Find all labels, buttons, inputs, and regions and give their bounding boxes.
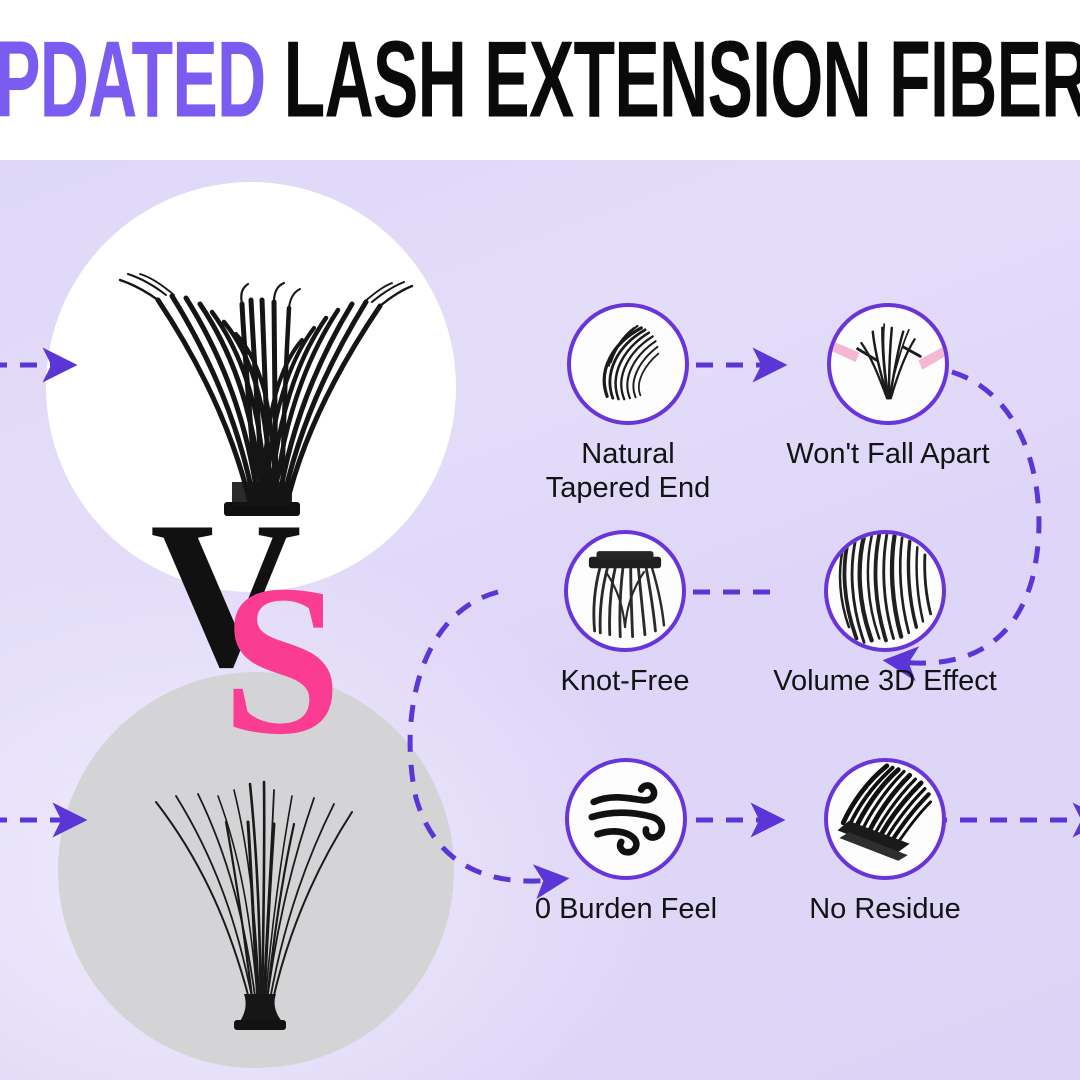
feature-knot-free[interactable]: Knot-Free	[505, 530, 745, 698]
feature-icon-circle	[827, 303, 949, 425]
infographic-root: UPDATED LASH EXTENSION FIBERS	[0, 0, 1080, 1080]
volume-lash-icon	[828, 534, 942, 648]
feature-label: 0 Burden Feel	[535, 892, 717, 926]
tweezers-lash-icon	[831, 307, 945, 421]
feature-label: No Residue	[809, 892, 961, 926]
feature-no-residue[interactable]: No Residue	[765, 758, 1005, 926]
versus-letter-s: S	[222, 552, 342, 767]
feature-icon-circle	[565, 758, 687, 880]
versus-badge: V S	[150, 490, 380, 740]
wind-icon	[569, 762, 683, 876]
feature-zero-burden-feel[interactable]: 0 Burden Feel	[506, 758, 746, 926]
feature-icon-circle	[824, 530, 946, 652]
page-title: UPDATED LASH EXTENSION FIBERS	[0, 26, 1080, 135]
feature-icon-circle	[824, 758, 946, 880]
feature-icon-circle	[567, 303, 689, 425]
feature-natural-tapered-end[interactable]: Natural Tapered End	[508, 303, 748, 505]
title-plain-words: LASH EXTENSION FIBERS	[283, 20, 1080, 140]
feature-label: Knot-Free	[561, 664, 690, 698]
feature-wont-fall-apart[interactable]: Won't Fall Apart	[768, 303, 1008, 471]
header-bar: UPDATED LASH EXTENSION FIBERS	[0, 0, 1080, 160]
content-stage: V S	[0, 160, 1080, 1080]
feature-label: Natural Tapered End	[546, 437, 710, 505]
feature-label: Volume 3D Effect	[773, 664, 997, 698]
knot-free-lash-icon	[568, 534, 682, 648]
tapered-lash-icon	[571, 307, 685, 421]
feature-label: Won't Fall Apart	[786, 437, 989, 471]
lash-strip-icon	[828, 762, 942, 876]
feature-icon-circle	[564, 530, 686, 652]
feature-volume-3d-effect[interactable]: Volume 3D Effect	[765, 530, 1005, 698]
title-accent-word: UPDATED	[0, 20, 265, 140]
